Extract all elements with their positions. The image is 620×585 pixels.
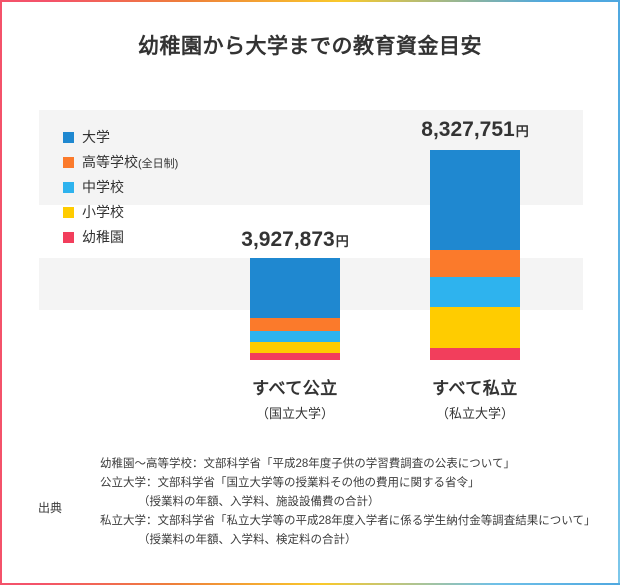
bar-value-public-unit: 円 <box>336 234 349 249</box>
bar-value-private-number: 8,327,751 <box>421 118 514 141</box>
category-label-private-sub: （私立大学） <box>375 403 575 422</box>
category-label-private: すべて私立 （私立大学） <box>375 374 575 422</box>
source-line: 公立大学：文部科学省「国立大学等の授業料その他の費用に関する省令」 <box>100 474 600 493</box>
bar-segment-public[interactable] <box>250 258 340 318</box>
legend-item-highschool[interactable]: 高等学校(全日制) <box>63 151 178 173</box>
bar-value-public-number: 3,927,873 <box>241 228 334 251</box>
page-border-left <box>0 0 2 585</box>
source-lines: 幼稚園〜高等学校：文部科学省「平成28年度子供の学習費調査の公表について」公立大… <box>100 455 600 550</box>
bar-segment-public[interactable] <box>250 331 340 342</box>
bar-segment-public[interactable] <box>250 342 340 353</box>
legend-item-elementary[interactable]: 小学校 <box>63 201 178 223</box>
category-label-public: すべて公立 （国立大学） <box>195 374 395 422</box>
bar-segment-private[interactable] <box>430 150 520 250</box>
legend-item-university[interactable]: 大学 <box>63 126 178 148</box>
legend-swatch-icon <box>63 132 74 143</box>
legend-swatch-icon <box>63 232 74 243</box>
bar-private[interactable] <box>430 150 520 360</box>
legend-item-sublabel: (全日制) <box>138 158 178 170</box>
source-line: （授業料の年額、入学料、施設設備費の合計） <box>100 493 600 512</box>
category-label-private-main: すべて私立 <box>375 374 575 399</box>
legend-item-label: 幼稚園 <box>82 227 124 247</box>
legend-swatch-icon <box>63 207 74 218</box>
bar-segment-public[interactable] <box>250 353 340 360</box>
bar-segment-private[interactable] <box>430 307 520 348</box>
legend-item-label: 大学 <box>82 127 110 147</box>
page-title: 幼稚園から大学までの教育資金目安 <box>0 30 620 60</box>
page-border-top <box>0 0 620 2</box>
bar-segment-public[interactable] <box>250 318 340 331</box>
bar-segment-private[interactable] <box>430 277 520 307</box>
bar-value-private: 8,327,751円 <box>375 118 575 142</box>
bar-segment-private[interactable] <box>430 250 520 277</box>
bar-public[interactable] <box>250 258 340 360</box>
legend-item-juniorhigh[interactable]: 中学校 <box>63 176 178 198</box>
source-line: 私立大学：文部科学省「私立大学等の平成28年度入学者に係る学生納付金等調査結果に… <box>100 512 600 531</box>
legend-item-kindergarten[interactable]: 幼稚園 <box>63 226 178 248</box>
source-title: 出典 <box>38 499 62 516</box>
legend-item-label: 中学校 <box>82 177 124 197</box>
legend-swatch-icon <box>63 182 74 193</box>
source-line: 幼稚園〜高等学校：文部科学省「平成28年度子供の学習費調査の公表について」 <box>100 455 600 474</box>
legend: 大学高等学校(全日制)中学校小学校幼稚園 <box>63 126 178 251</box>
bar-segment-private[interactable] <box>430 348 520 360</box>
bar-value-private-unit: 円 <box>516 124 529 139</box>
legend-item-label: 高等学校(全日制) <box>82 152 178 172</box>
category-label-public-main: すべて公立 <box>195 374 395 399</box>
category-label-public-sub: （国立大学） <box>195 403 395 422</box>
legend-item-label: 小学校 <box>82 202 124 222</box>
bar-value-public: 3,927,873円 <box>195 228 395 252</box>
chart-page: 幼稚園から大学までの教育資金目安 3,927,873円 8,327,751円 す… <box>0 0 620 585</box>
source-line: （授業料の年額、入学料、検定料の合計） <box>100 531 600 550</box>
legend-swatch-icon <box>63 157 74 168</box>
